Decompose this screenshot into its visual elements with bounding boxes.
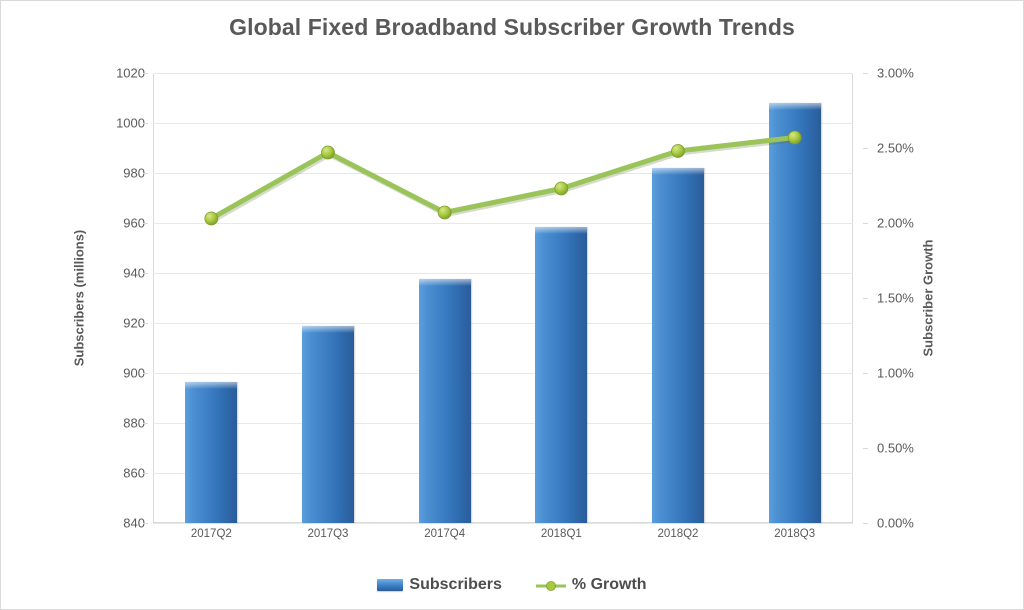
primary-y-tick-mark (143, 223, 148, 224)
legend-label-subscribers: Subscribers (409, 576, 501, 594)
growth-marker-2018Q2[interactable] (672, 145, 685, 158)
secondary-y-tick-mark (863, 73, 868, 74)
primary-y-axis-title: Subscribers (millions) (72, 230, 87, 367)
secondary-y-axis-ticks: 3.00%2.50%2.00%1.50%1.00%0.50%0.00% (863, 73, 927, 523)
chart-title: Global Fixed Broadband Subscriber Growth… (1, 14, 1023, 41)
primary-y-tick-label: 940 (85, 266, 145, 281)
growth-marker-2017Q2[interactable] (205, 212, 218, 225)
secondary-y-tick-label: 2.00% (877, 216, 937, 231)
primary-y-tick-label: 1000 (85, 116, 145, 131)
secondary-y-tick-mark (863, 148, 868, 149)
primary-y-tick-label: 840 (85, 516, 145, 531)
secondary-y-tick-label: 0.50% (877, 441, 937, 456)
secondary-y-tick-mark (863, 298, 868, 299)
chart-container: Global Fixed Broadband Subscriber Growth… (0, 0, 1024, 610)
secondary-y-tick-mark (863, 223, 868, 224)
primary-y-tick-mark (143, 123, 148, 124)
line-marker-swatch-icon (536, 579, 566, 591)
x-axis-category-labels: 2017Q22017Q32017Q42018Q12018Q22018Q3 (153, 528, 853, 550)
growth-marker-2017Q3[interactable] (322, 146, 335, 159)
x-tick-label-2018Q1: 2018Q1 (541, 528, 582, 540)
growth-marker-2017Q4[interactable] (438, 206, 451, 219)
secondary-y-tick-mark (863, 448, 868, 449)
secondary-y-tick-label: 1.00% (877, 366, 937, 381)
x-tick-label-2017Q4: 2017Q4 (424, 528, 465, 540)
x-tick-label-2018Q2: 2018Q2 (658, 528, 699, 540)
secondary-y-tick-mark (863, 523, 868, 524)
line-shadow (213, 140, 796, 221)
legend-item-subscribers[interactable]: Subscribers (377, 576, 501, 594)
primary-y-tick-label: 960 (85, 216, 145, 231)
line-series-growth (153, 73, 853, 523)
plot-area (153, 73, 853, 523)
legend-item-growth[interactable]: % Growth (536, 576, 647, 594)
gridline (153, 523, 853, 524)
chart-legend: Subscribers % Growth (1, 576, 1023, 594)
primary-y-tick-mark (143, 323, 148, 324)
primary-y-tick-label: 920 (85, 316, 145, 331)
x-tick-label-2018Q3: 2018Q3 (774, 528, 815, 540)
primary-y-tick-mark (143, 73, 148, 74)
primary-y-tick-mark (143, 173, 148, 174)
growth-marker-2018Q1[interactable] (555, 182, 568, 195)
growth-marker-2018Q3[interactable] (788, 131, 801, 144)
primary-y-tick-mark (143, 373, 148, 374)
secondary-y-tick-label: 0.00% (877, 516, 937, 531)
primary-y-tick-label: 900 (85, 366, 145, 381)
primary-y-tick-mark (143, 423, 148, 424)
secondary-y-axis-title: Subscriber Growth (921, 239, 936, 356)
primary-y-tick-mark (143, 523, 148, 524)
growth-line (211, 138, 794, 219)
secondary-y-tick-label: 3.00% (877, 66, 937, 81)
x-tick-label-2017Q3: 2017Q3 (308, 528, 349, 540)
primary-y-tick-label: 860 (85, 466, 145, 481)
bar-swatch-icon (377, 579, 403, 591)
primary-y-tick-label: 1020 (85, 66, 145, 81)
x-tick-label-2017Q2: 2017Q2 (191, 528, 232, 540)
primary-y-tick-mark (143, 273, 148, 274)
primary-y-axis-ticks: 10201000980960940920900880860840 (81, 73, 145, 523)
secondary-y-tick-mark (863, 373, 868, 374)
primary-y-tick-mark (143, 473, 148, 474)
primary-y-tick-label: 880 (85, 416, 145, 431)
secondary-y-tick-label: 2.50% (877, 141, 937, 156)
primary-y-tick-label: 980 (85, 166, 145, 181)
legend-label-growth: % Growth (572, 576, 647, 594)
